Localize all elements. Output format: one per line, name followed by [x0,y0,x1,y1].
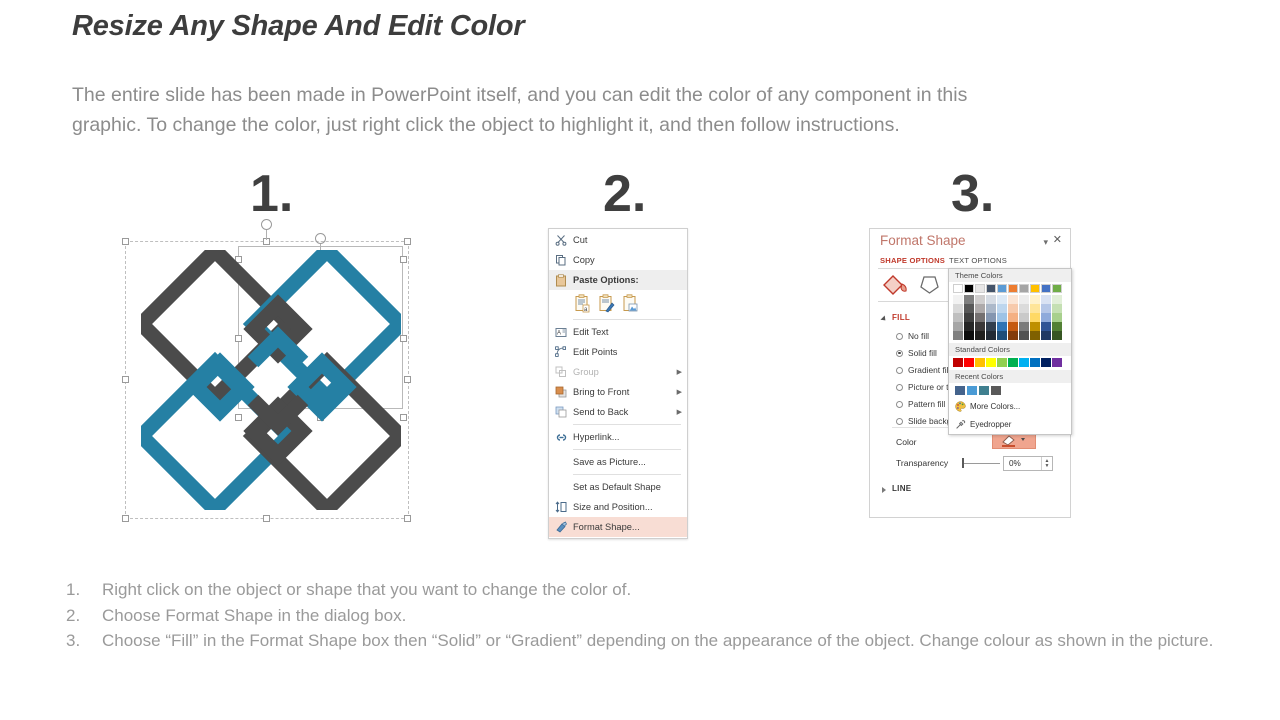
resize-handle-s[interactable] [263,515,270,522]
resize-handle-sw[interactable] [122,515,129,522]
standard-color-swatch[interactable] [1008,358,1018,367]
scissors-icon [552,233,570,248]
theme-color-swatch[interactable] [986,322,996,331]
theme-color-swatch[interactable] [953,304,963,313]
resize-handle-ne[interactable] [404,238,411,245]
transparency-slider-track[interactable] [964,463,1000,464]
more-colors-item[interactable]: More Colors... [949,398,1071,416]
inner-resize-handle-e[interactable] [400,335,407,342]
bring-to-front-icon [552,385,570,400]
theme-color-swatch[interactable] [1008,295,1018,304]
theme-color-column[interactable] [1052,284,1062,340]
theme-color-swatch[interactable] [964,304,974,313]
instruction-item: 1. Right click on the object or shape th… [66,577,1276,603]
theme-color-swatch[interactable] [1052,284,1062,293]
theme-color-swatch[interactable] [975,284,985,293]
no-icon [552,480,570,495]
spinner-arrows-icon[interactable]: ▲▼ [1041,457,1052,470]
format-shape-icon [552,520,570,535]
theme-color-swatch[interactable] [1041,331,1051,340]
clipboard-icon [552,273,570,288]
theme-color-swatch[interactable] [964,322,974,331]
fill-bucket-icon [884,276,906,294]
theme-color-column[interactable] [953,284,963,340]
chevron-right-icon: ▶ [677,408,682,416]
tab-text-options[interactable]: TEXT OPTIONS [949,256,1007,265]
svg-text:A: A [557,330,561,336]
theme-color-swatch[interactable] [997,284,1007,293]
theme-color-swatch[interactable] [975,313,985,322]
context-menu-item-bring-to-front[interactable]: Bring to Front ▶ [549,382,687,402]
theme-colors-heading: Theme Colors [949,269,1071,282]
format-shape-title: Format Shape [880,233,966,248]
context-menu-item-save-as-picture[interactable]: Save as Picture... [549,452,687,472]
theme-color-swatch[interactable] [1041,295,1051,304]
copy-icon [552,253,570,268]
theme-color-swatch[interactable] [997,313,1007,322]
intro-line-2: graphic. To change the color, just right… [72,110,1212,140]
step-number-3: 3. [951,168,994,220]
context-menu-label: Paste Options: [573,275,687,285]
recent-color-swatch[interactable] [955,386,965,395]
theme-color-swatch[interactable] [986,313,996,322]
theme-color-column[interactable] [1019,284,1029,340]
standard-color-swatch[interactable] [1030,358,1040,367]
edit-text-icon: A [552,325,570,340]
theme-color-swatch[interactable] [1008,331,1018,340]
context-menu-label: Format Shape... [573,522,687,532]
instruction-text: Choose Format Shape in the dialog box. [102,603,1276,629]
theme-color-swatch[interactable] [975,295,985,304]
recent-colors-row[interactable] [949,383,1071,398]
theme-color-column[interactable] [1030,284,1040,340]
context-menu-item-edit-text[interactable]: A Edit Text [549,322,687,342]
theme-color-swatch[interactable] [953,331,963,340]
theme-color-swatch[interactable] [1030,331,1040,340]
standard-color-swatch[interactable] [1041,358,1051,367]
intro-line-1: The entire slide has been made in PowerP… [72,84,967,106]
instruction-number: 2. [66,603,102,629]
context-menu-label: Size and Position... [573,502,687,512]
theme-color-swatch[interactable] [997,331,1007,340]
theme-color-swatch[interactable] [975,331,985,340]
menu-separator [573,474,681,475]
context-menu-label: Edit Text [573,327,687,337]
inner-resize-handle-ne[interactable] [400,256,407,263]
context-menu-label: Copy [573,255,687,265]
context-menu-label: Send to Back [573,407,677,417]
theme-color-swatch[interactable] [1019,313,1029,322]
theme-color-swatch[interactable] [1019,295,1029,304]
fill-option-no-fill[interactable]: No fill [896,331,929,341]
theme-color-swatch[interactable] [1008,304,1018,313]
diamond-gray-bottom-right [253,362,400,509]
theme-color-swatch[interactable] [997,295,1007,304]
instruction-number: 1. [66,577,102,603]
paste-picture-icon[interactable] [622,294,639,313]
theme-color-swatch[interactable] [986,304,996,313]
hyperlink-icon [552,430,570,445]
theme-color-swatch[interactable] [1052,313,1062,322]
theme-color-swatch[interactable] [1052,295,1062,304]
paste-options-row[interactable]: a [549,290,687,317]
radio-solid-fill[interactable] [896,350,903,357]
no-icon [552,455,570,470]
instruction-item: 2. Choose Format Shape in the dialog box… [66,603,1276,629]
recent-color-swatch[interactable] [991,386,1001,395]
effects-pentagon-icon [921,277,938,293]
transparency-value: 0% [1004,459,1041,468]
theme-color-column[interactable] [975,284,985,340]
context-menu-label: Group [573,367,677,377]
theme-color-swatch[interactable] [1041,304,1051,313]
theme-color-swatch[interactable] [986,284,996,293]
theme-color-swatch[interactable] [1019,284,1029,293]
standard-color-swatch[interactable] [1019,358,1029,367]
fill-option-label: Solid fill [908,348,937,358]
radio-no-fill[interactable] [896,333,903,340]
theme-color-swatch[interactable] [975,304,985,313]
theme-color-swatch[interactable] [1052,304,1062,313]
edit-points-icon [552,345,570,360]
standard-color-swatch[interactable] [986,358,996,367]
theme-color-swatch[interactable] [1030,295,1040,304]
context-menu-label: Edit Points [573,347,687,357]
theme-color-swatch[interactable] [1008,322,1018,331]
theme-color-column[interactable] [1041,284,1051,340]
transparency-spinner[interactable]: 0% ▲▼ [1003,456,1053,471]
chevron-right-icon: ▶ [677,388,682,396]
theme-color-swatch[interactable] [986,331,996,340]
standard-color-swatch[interactable] [997,358,1007,367]
menu-separator [573,424,681,425]
theme-color-swatch[interactable] [986,295,996,304]
radio-gradient-fill[interactable] [896,367,903,374]
intro-paragraph: The entire slide has been made in PowerP… [72,80,1212,140]
instructions-list: 1. Right click on the object or shape th… [66,577,1276,654]
instruction-text: Right click on the object or shape that … [102,577,1276,603]
theme-color-swatch[interactable] [1030,284,1040,293]
context-menu-item-edit-points[interactable]: Edit Points [549,342,687,362]
fill-option-gradient-fill[interactable]: Gradient fill [896,365,950,375]
eyedropper-label: Eyedropper [970,420,1011,429]
paste-keep-formatting-icon[interactable] [598,294,615,313]
resize-handle-e[interactable] [404,376,411,383]
transparency-label: Transparency [896,458,948,468]
theme-color-swatch[interactable] [1041,284,1051,293]
fill-section-label[interactable]: FILL [892,313,910,322]
line-section-label[interactable]: LINE [892,484,911,493]
color-picker-dropdown[interactable]: Theme Colors Standard Colors Recent Colo… [948,268,1072,435]
standard-color-swatch[interactable] [953,358,963,367]
interlocking-diamonds-graphic[interactable] [141,250,401,510]
fill-option-pattern-fill[interactable]: Pattern fill [896,399,945,409]
instruction-number: 3. [66,628,102,654]
send-to-back-icon [552,405,570,420]
line-expand-icon[interactable] [882,487,886,493]
standard-color-swatch[interactable] [964,358,974,367]
color-label: Color [896,437,917,447]
context-menu-item-paste-options[interactable]: Paste Options: [549,270,687,290]
theme-color-swatch[interactable] [953,322,963,331]
theme-color-swatch[interactable] [975,322,985,331]
theme-color-swatch[interactable] [1030,304,1040,313]
shape-illustration-panel [125,228,415,520]
standard-colors-heading: Standard Colors [949,343,1071,356]
theme-color-swatch[interactable] [964,295,974,304]
palette-icon [954,401,967,412]
group-icon [552,365,570,380]
theme-color-swatch[interactable] [1019,331,1029,340]
page-title: Resize Any Shape And Edit Color [72,10,525,43]
recent-colors-heading: Recent Colors [949,370,1071,383]
theme-color-swatch[interactable] [964,331,974,340]
step-number-2: 2. [603,168,646,220]
size-position-icon [552,500,570,515]
theme-color-swatch[interactable] [964,284,974,293]
context-menu-label: Hyperlink... [573,432,687,442]
instruction-text: Choose “Fill” in the Format Shape box th… [102,628,1276,654]
more-colors-label: More Colors... [970,402,1020,411]
theme-color-swatch[interactable] [1030,322,1040,331]
theme-color-swatch[interactable] [1041,313,1051,322]
inner-resize-handle-se[interactable] [400,414,407,421]
fill-expand-icon[interactable] [880,315,887,322]
theme-color-column[interactable] [964,284,974,340]
rotate-stem-left [266,229,267,240]
theme-color-swatch[interactable] [1041,322,1051,331]
theme-color-swatch[interactable] [1008,313,1018,322]
context-menu-item-send-to-back[interactable]: Send to Back ▶ [549,402,687,422]
fill-option-solid-fill[interactable]: Solid fill [896,348,937,358]
theme-color-swatch[interactable] [953,295,963,304]
context-menu-label: Set as Default Shape [573,482,687,492]
rotate-handle-left[interactable] [261,219,272,230]
theme-color-swatch[interactable] [953,284,963,293]
theme-color-column[interactable] [1008,284,1018,340]
context-menu-item-set-default-shape[interactable]: Set as Default Shape [549,477,687,497]
menu-separator [573,319,681,320]
step-number-1: 1. [250,168,293,220]
context-menu-label: Bring to Front [573,387,677,397]
radio-pattern-fill[interactable] [896,401,903,408]
fill-option-label: Pattern fill [908,399,945,409]
chevron-right-icon: ▶ [677,368,682,376]
context-menu-item-hyperlink[interactable]: Hyperlink... [549,427,687,447]
theme-color-swatch[interactable] [1052,322,1062,331]
context-menu-item-copy[interactable]: Copy [549,250,687,270]
context-menu-item-size-and-position[interactable]: Size and Position... [549,497,687,517]
standard-colors-row[interactable] [949,356,1071,370]
standard-color-swatch[interactable] [975,358,985,367]
fill-option-label: No fill [908,331,929,341]
resize-handle-se[interactable] [404,515,411,522]
context-menu[interactable]: Cut Copy Paste Options: a [548,228,688,539]
radio-slide-background-fill[interactable] [896,418,903,425]
theme-color-swatch[interactable] [953,313,963,322]
theme-color-swatch[interactable] [1019,322,1029,331]
resize-handle-nw[interactable] [122,238,129,245]
rotate-handle-right[interactable] [315,233,326,244]
theme-colors-grid[interactable] [949,282,1071,343]
theme-color-swatch[interactable] [997,304,1007,313]
menu-separator [573,449,681,450]
format-shape-pane[interactable]: Format Shape ▾ ✕ SHAPE OPTIONS TEXT OPTI… [869,228,1071,518]
tab-shape-options[interactable]: SHAPE OPTIONS [880,256,945,265]
context-menu-item-cut[interactable]: Cut [549,230,687,250]
theme-color-swatch[interactable] [1019,304,1029,313]
fill-option-label: Gradient fill [908,365,950,375]
context-menu-item-format-shape[interactable]: Format Shape... [549,517,687,537]
context-menu-label: Cut [573,235,687,245]
standard-color-swatch[interactable] [1052,358,1062,367]
radio-picture-fill[interactable] [896,384,903,391]
instruction-item: 3. Choose “Fill” in the Format Shape box… [66,628,1276,654]
close-icon[interactable]: ✕ [1053,233,1062,246]
eyedropper-item[interactable]: Eyedropper [949,416,1071,434]
recent-color-swatch[interactable] [967,386,977,395]
eyedropper-icon [954,419,967,430]
theme-color-swatch[interactable] [997,322,1007,331]
theme-color-swatch[interactable] [1052,331,1062,340]
context-menu-label: Save as Picture... [573,457,687,467]
paste-keep-text-icon[interactable]: a [574,294,591,313]
theme-color-column[interactable] [986,284,996,340]
theme-color-swatch[interactable] [1030,313,1040,322]
chevron-down-icon[interactable]: ▾ [1043,237,1048,248]
resize-handle-w[interactable] [122,376,129,383]
theme-color-swatch[interactable] [1008,284,1018,293]
context-menu-item-group[interactable]: Group ▶ [549,362,687,382]
theme-color-column[interactable] [997,284,1007,340]
recent-color-swatch[interactable] [979,386,989,395]
theme-color-swatch[interactable] [964,313,974,322]
